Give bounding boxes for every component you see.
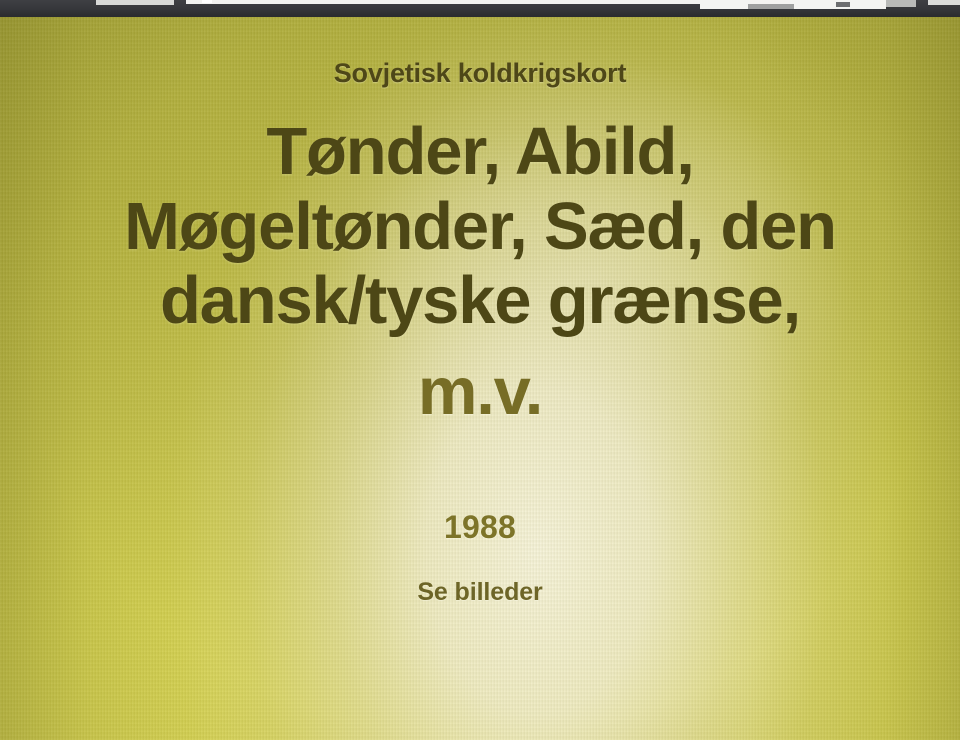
listing-year: 1988 xyxy=(444,509,516,546)
bezel-window-fragment xyxy=(886,0,916,7)
photographed-screen: Sovjetisk koldkrigskort Tønder, Abild, M… xyxy=(0,0,960,740)
bezel-window-fragment xyxy=(836,2,850,7)
listing-title-line-3: dansk/tyske grænse, xyxy=(30,264,930,339)
monitor-bezel-strip xyxy=(0,0,960,17)
listing-title: Tønder, Abild, Møgeltønder, Sæd, den dan… xyxy=(30,115,930,430)
bezel-window-fragment xyxy=(202,0,212,3)
listing-title-line-4: m.v. xyxy=(30,355,930,430)
listing-content: Sovjetisk koldkrigskort Tønder, Abild, M… xyxy=(0,16,960,740)
listing-card: Sovjetisk koldkrigskort Tønder, Abild, M… xyxy=(0,16,960,740)
bezel-window-fragment xyxy=(928,0,960,5)
listing-category-kicker: Sovjetisk koldkrigskort xyxy=(334,58,627,89)
bezel-window-fragment xyxy=(748,4,794,9)
listing-title-line-1: Tønder, Abild, xyxy=(30,115,930,190)
listing-title-line-2: Møgeltønder, Sæd, den xyxy=(30,190,930,265)
see-images-link[interactable]: Se billeder xyxy=(417,578,542,607)
bezel-window-fragment xyxy=(186,0,726,4)
bezel-window-fragment xyxy=(96,0,174,5)
